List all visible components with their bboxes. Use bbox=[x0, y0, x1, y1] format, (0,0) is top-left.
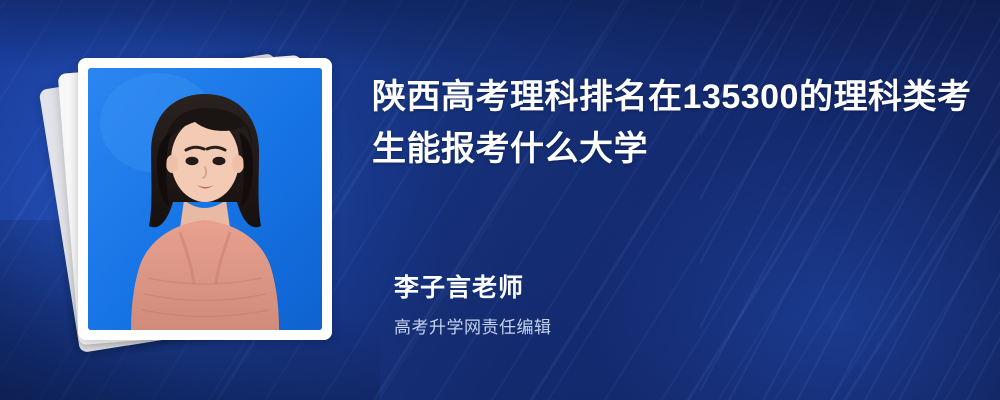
author-name: 李子言老师 bbox=[394, 272, 814, 305]
photo-card-front bbox=[78, 58, 332, 340]
photo-card-stack bbox=[50, 48, 350, 348]
portrait-illustration bbox=[88, 68, 322, 330]
byline: 李子言老师 高考升学网责任编辑 bbox=[394, 272, 814, 339]
author-portrait-photo bbox=[88, 68, 322, 330]
article-cover-banner: 陕西高考理科排名在135300的理科类考生能报考什么大学 李子言老师 高考升学网… bbox=[0, 0, 1000, 400]
author-role: 高考升学网责任编辑 bbox=[394, 317, 814, 339]
page-title: 陕西高考理科排名在135300的理科类考生能报考什么大学 bbox=[372, 72, 972, 175]
